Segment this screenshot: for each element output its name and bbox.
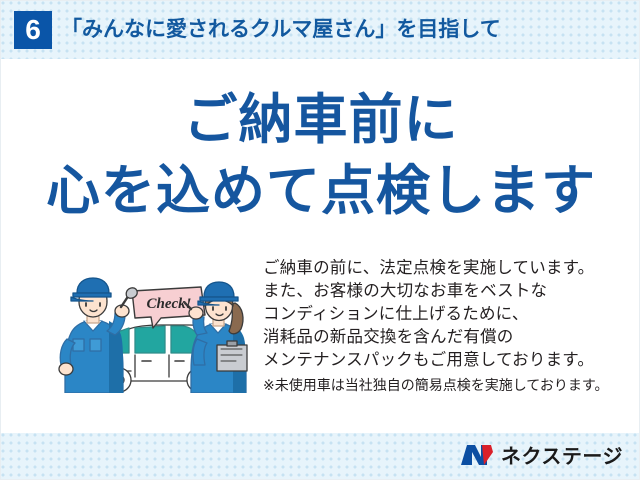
illustration-mechanics-van: Check! bbox=[57, 273, 257, 393]
step-number-badge: 6 bbox=[14, 11, 52, 49]
body-note: ※未使用車は当社独自の簡易点検を実施しております。 bbox=[263, 372, 625, 396]
headline-line-1: ご納車前に bbox=[1, 85, 640, 155]
body-copy: ご納車の前に、法定点検を実施しています。 また、お客様の大切なお車をベストな コ… bbox=[263, 257, 625, 396]
body-line-4: 消耗品の新品交換を含んだ有償の bbox=[263, 326, 625, 349]
check-bubble-label: Check! bbox=[147, 296, 192, 312]
body-line-3: コンディションに仕上げるために、 bbox=[263, 303, 625, 326]
header-title: 「みんなに愛されるクルマ屋さん」を目指して bbox=[61, 14, 501, 46]
headline: ご納車前に 心を込めて点検します bbox=[1, 85, 640, 227]
brand-name: ネクステージ bbox=[501, 442, 623, 472]
headline-line-2: 心を込めて点検します bbox=[1, 155, 640, 227]
body-line-2: また、お客様の大切なお車をベストな bbox=[263, 280, 625, 303]
promo-slide: 6 「みんなに愛されるクルマ屋さん」を目指して ご納車前に 心を込めて点検します… bbox=[0, 0, 640, 480]
nextage-n-mark-icon bbox=[460, 443, 494, 472]
body-line-5: メンテナンスパックもご用意しております。 bbox=[263, 349, 625, 372]
body-line-1: ご納車の前に、法定点検を実施しています。 bbox=[263, 257, 625, 280]
brand-logo: ネクステージ bbox=[460, 442, 623, 472]
